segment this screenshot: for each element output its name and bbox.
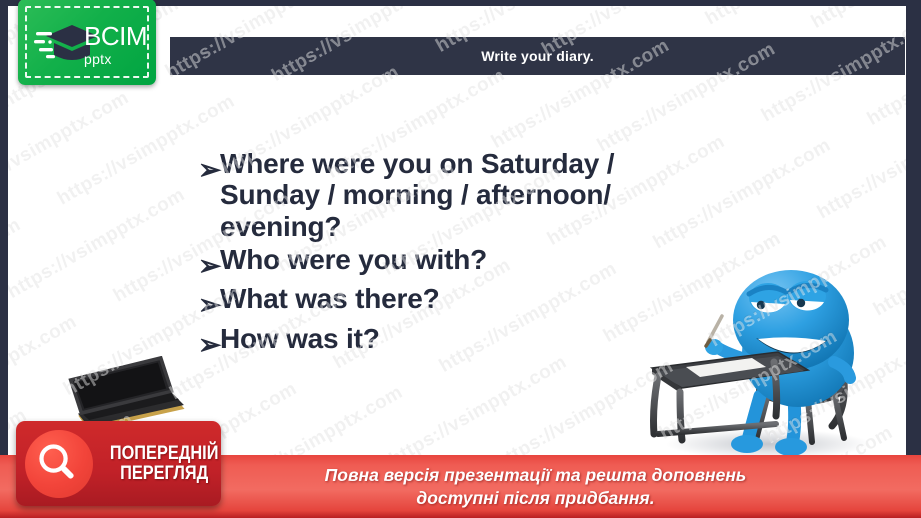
purchase-notice-line-1: Повна версія презентації та решта доповн…	[325, 464, 747, 486]
magnifier-icon	[25, 430, 93, 498]
preview-badge-labels: ПОПЕРЕДНІЙ ПЕРЕГЛЯД	[101, 444, 227, 484]
bullet-item: ➢What was there?	[198, 283, 698, 320]
purchase-notice-line-2: доступні після придбання.	[325, 487, 747, 509]
bullet-item: ➢Where were you on Saturday / Sunday / m…	[198, 148, 698, 242]
bullet-item: ➢How was it?	[198, 323, 698, 360]
page-title: Write your diary.	[481, 48, 594, 64]
bullet-arrow-icon: ➢	[198, 289, 220, 320]
bullet-text: Where were you on Saturday / Sunday / mo…	[220, 148, 698, 242]
slide-frame: https://vsimpptx.comhttps://vsimpptx.com…	[0, 0, 921, 518]
bullet-item: ➢Who were you with?	[198, 244, 698, 281]
bullet-list: ➢Where were you on Saturday / Sunday / m…	[198, 148, 698, 362]
laptop-illustration	[63, 356, 188, 426]
preview-badge-line-2: ПЕРЕГЛЯД	[110, 464, 219, 484]
preview-badge[interactable]: ПОПЕРЕДНІЙ ПЕРЕГЛЯД	[16, 421, 221, 506]
preview-badge-line-1: ПОПЕРЕДНІЙ	[110, 444, 219, 464]
slide-header-bar: Write your diary.	[170, 37, 905, 75]
purchase-notice-text: Повна версія презентації та решта доповн…	[175, 464, 747, 509]
bcim-logo[interactable]: BCIM pptx	[18, 0, 156, 85]
bullet-arrow-icon: ➢	[198, 250, 220, 281]
bullet-arrow-icon: ➢	[198, 154, 220, 185]
logo-subtitle: pptx	[84, 52, 147, 66]
bullet-text: What was there?	[220, 283, 698, 314]
logo-name: BCIM	[84, 23, 147, 49]
logo-wordmark: BCIM pptx	[84, 23, 147, 66]
bullet-text: How was it?	[220, 323, 698, 354]
bullet-text: Who were you with?	[220, 244, 698, 275]
bullet-arrow-icon: ➢	[198, 329, 220, 360]
